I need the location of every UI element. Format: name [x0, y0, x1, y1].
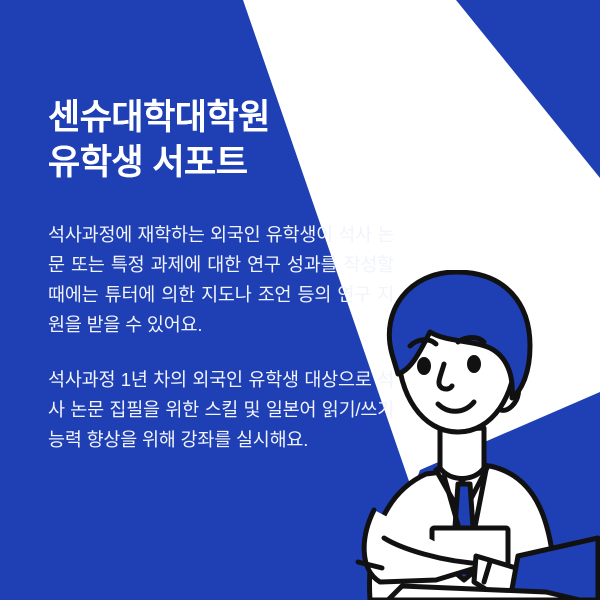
page-title: 센슈대학대학원 유학생 서포트	[48, 96, 394, 186]
title-line-1: 센슈대학대학원	[48, 96, 394, 141]
eye-right	[467, 355, 481, 373]
neck	[440, 428, 484, 479]
promo-card: 센슈대학대학원 유학생 서포트 석사과정에 재학하는 외국인 유학생이 석사 논…	[0, 0, 600, 600]
student-at-laptop-illustration	[340, 270, 600, 600]
eye-left	[417, 357, 431, 375]
title-line-2: 유학생 서포트	[48, 141, 394, 186]
